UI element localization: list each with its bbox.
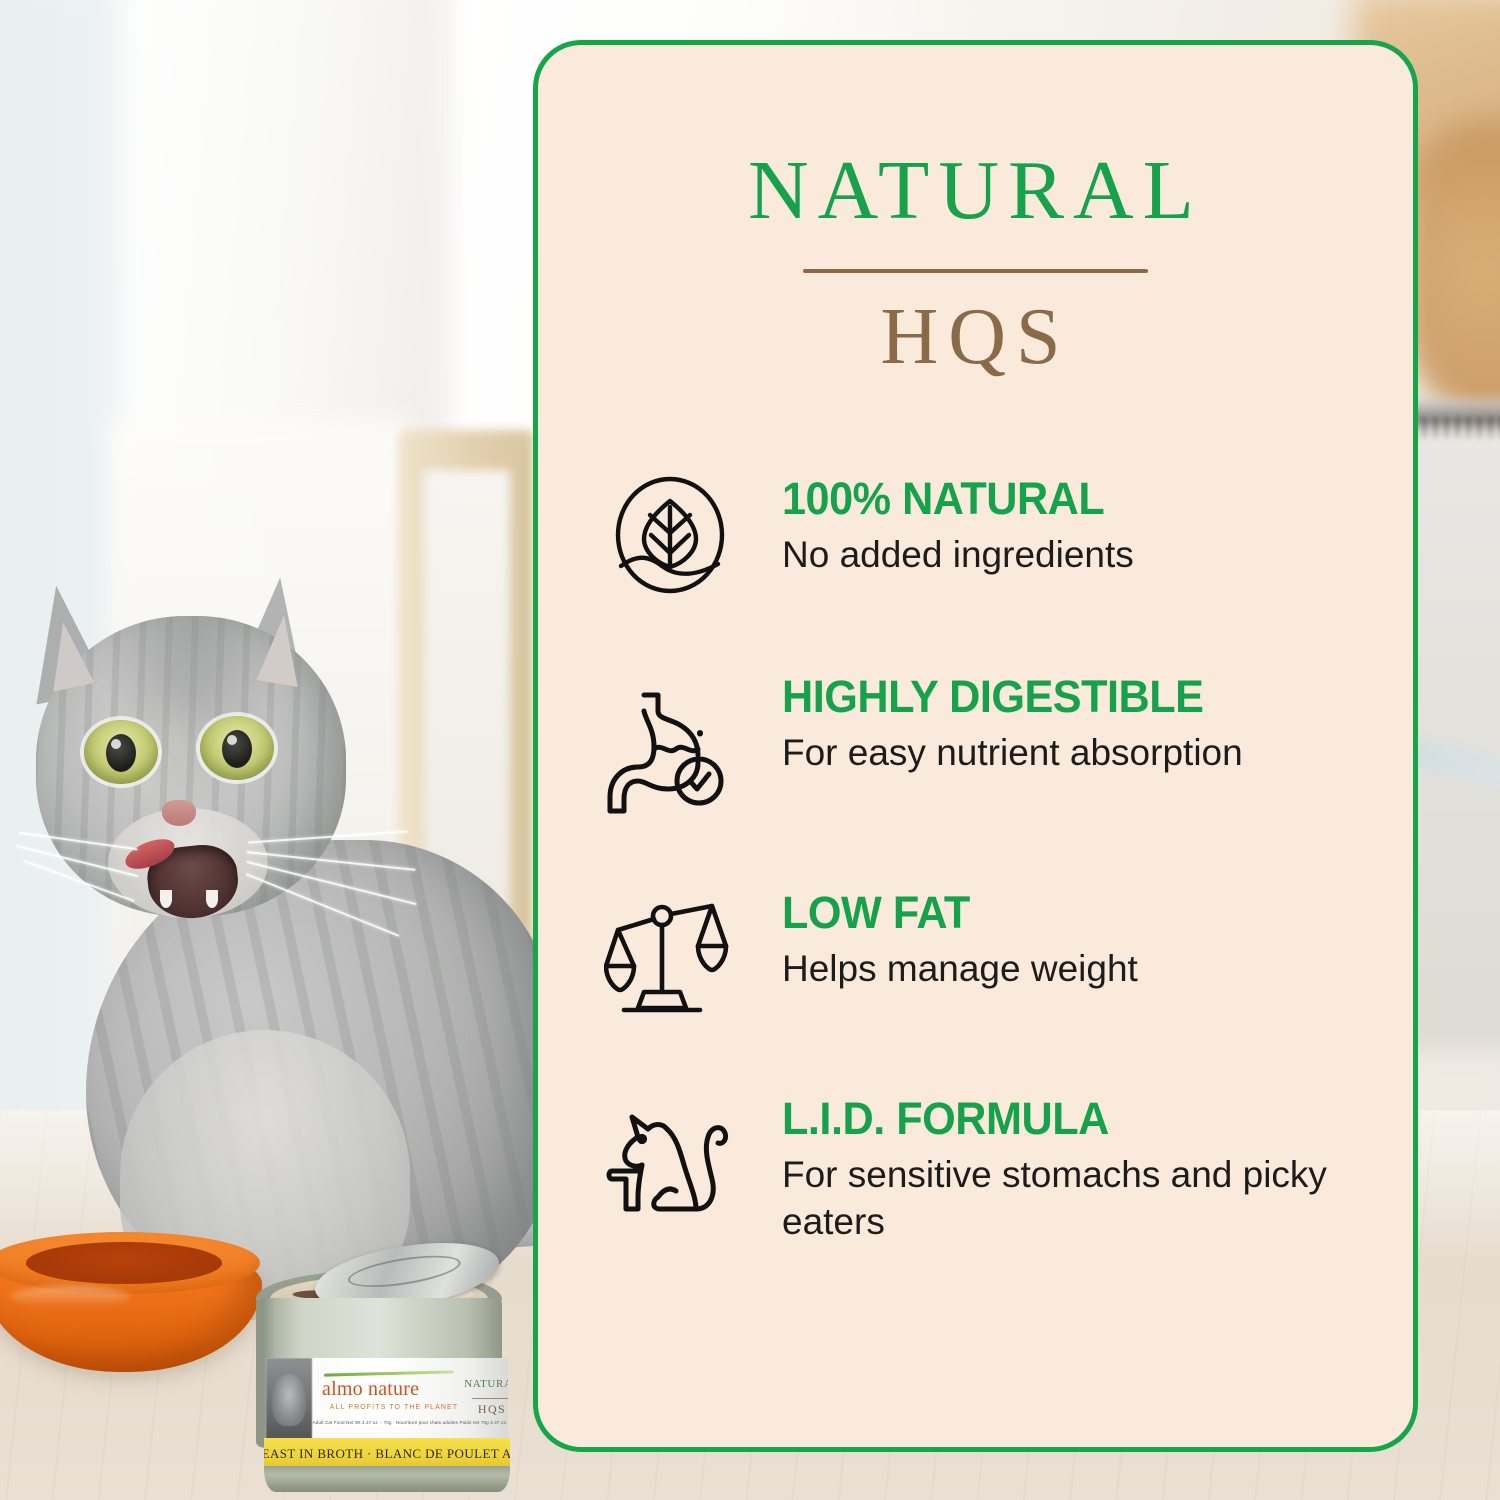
feature-title: L.I.D. FORMULA <box>782 1095 1338 1142</box>
sitting-cat-icon <box>600 1103 740 1243</box>
feature-title: HIGHLY DIGESTIBLE <box>782 673 1224 720</box>
balance-scale-icon <box>600 887 740 1027</box>
brand-header: NATURAL HQS <box>538 45 1413 377</box>
feature-title: 100% NATURAL <box>782 475 1120 522</box>
cat-eye-right <box>200 716 274 780</box>
brand-title-hqs: HQS <box>538 297 1413 377</box>
can-body: almo nature ALL PROFITS TO THE PLANET NA… <box>256 1298 502 1448</box>
feature-item: HIGHLY DIGESTIBLE For easy nutrient abso… <box>600 667 1361 821</box>
can-green-swoosh <box>324 1370 454 1376</box>
can-flavor-text: CHICKEN BREAST IN BROTH · BLANC DE POULE… <box>264 1446 510 1462</box>
feature-text: HIGHLY DIGESTIBLE For easy nutrient abso… <box>782 667 1243 777</box>
cat-nose <box>162 800 196 826</box>
cat-eye-left <box>84 720 158 784</box>
can-cat-photo <box>266 1358 312 1444</box>
can-bottom-rim <box>264 1466 510 1492</box>
can-range-divider <box>472 1398 508 1399</box>
orange-pet-bowl <box>0 1232 262 1380</box>
feature-text: LOW FAT Helps manage weight <box>782 883 1138 993</box>
feature-text: L.I.D. FORMULA For sensitive stomachs an… <box>782 1089 1361 1245</box>
screenshot-root: almo nature ALL PROFITS TO THE PLANET NA… <box>0 0 1500 1500</box>
cat-pupil-left <box>106 734 136 772</box>
feature-list: 100% NATURAL No added ingredients <box>538 469 1413 1245</box>
brand-divider <box>803 269 1148 273</box>
product-can: almo nature ALL PROFITS TO THE PLANET NA… <box>248 1262 510 1462</box>
bowl-highlight <box>10 1286 130 1308</box>
leaf-circle-icon <box>600 465 740 605</box>
feature-text: 100% NATURAL No added ingredients <box>782 469 1134 579</box>
can-range-natural: NATURAL <box>464 1378 508 1390</box>
feature-subtitle: For sensitive stomachs and picky eaters <box>782 1152 1361 1245</box>
cat-photo <box>0 560 600 1300</box>
bowl-interior <box>26 1242 222 1284</box>
cat-tooth-left <box>160 890 172 908</box>
cat-tooth-right <box>206 890 218 908</box>
can-fineprint: Adult Cat Food Net Wt 2.47 oz. - 70g · N… <box>310 1420 508 1425</box>
feature-item: 100% NATURAL No added ingredients <box>600 469 1361 605</box>
stomach-check-icon <box>600 681 740 821</box>
cat-pupil-right <box>222 730 252 768</box>
feature-subtitle: For easy nutrient absorption <box>782 730 1243 777</box>
brand-title-natural: NATURAL <box>538 149 1413 233</box>
can-label: almo nature ALL PROFITS TO THE PLANET NA… <box>266 1358 508 1444</box>
feature-title: LOW FAT <box>782 889 1124 936</box>
can-range-hqs: HQS <box>464 1402 508 1417</box>
can-tagline: ALL PROFITS TO THE PLANET <box>324 1404 464 1411</box>
can-brand-name: almo nature <box>322 1378 462 1401</box>
feature-item: LOW FAT Helps manage weight <box>600 883 1361 1027</box>
feature-subtitle: No added ingredients <box>782 532 1134 579</box>
feature-subtitle: Helps manage weight <box>782 946 1138 993</box>
feature-item: L.I.D. FORMULA For sensitive stomachs an… <box>600 1089 1361 1245</box>
info-panel: NATURAL HQS <box>533 40 1418 1452</box>
